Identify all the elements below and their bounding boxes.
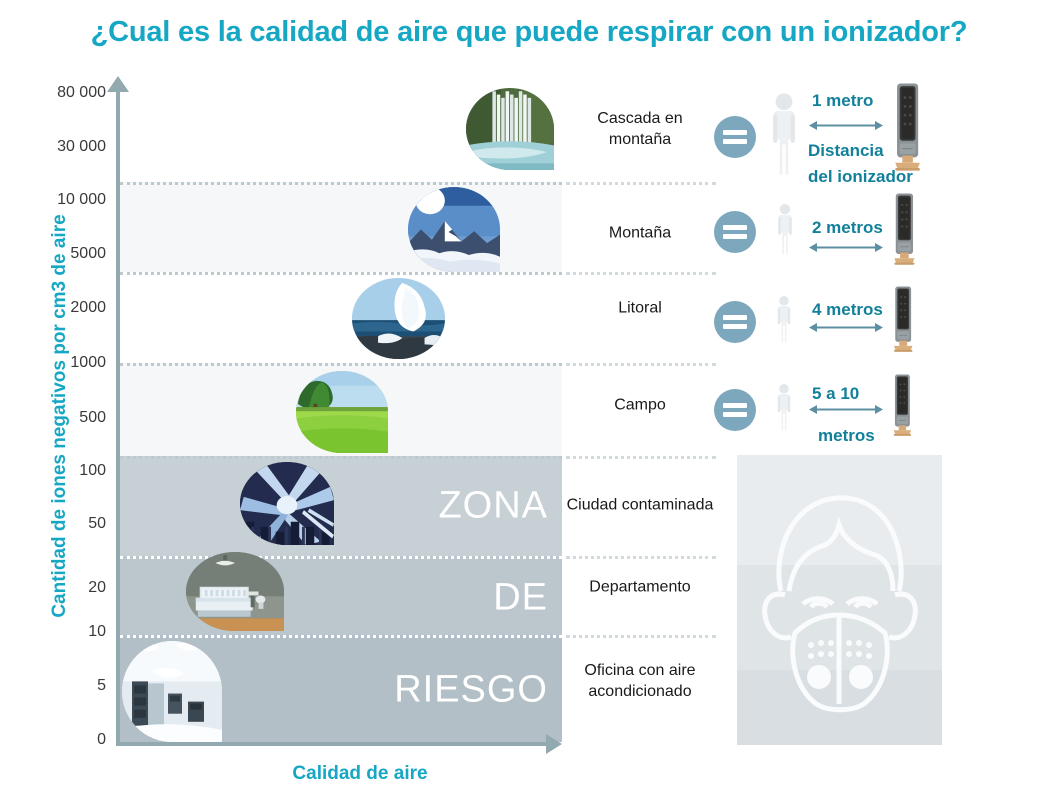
y-axis-tick: 1000 <box>30 354 106 372</box>
category-label: Cascada en montaña <box>566 108 714 150</box>
apartment-photo <box>186 552 284 631</box>
y-axis-tick: 10 <box>30 623 106 641</box>
ionizer-device-icon <box>890 375 915 442</box>
chart-gridline <box>120 556 562 559</box>
distance-value: 1 metro <box>812 91 873 111</box>
category-label: Campo <box>566 394 714 415</box>
y-axis-line <box>116 88 120 745</box>
double-arrow-icon <box>808 119 884 138</box>
y-axis-tick: 500 <box>30 409 106 427</box>
ionizer-device-icon <box>890 287 916 358</box>
y-axis-tick: 80 000 <box>30 84 106 102</box>
y-axis-tick: 2000 <box>30 299 106 317</box>
chart-gridline <box>120 182 562 185</box>
distance-caption-2: del ionizador <box>808 167 913 187</box>
risk-zone-text-3: RIESGO <box>394 669 548 712</box>
risk-zone-text-2: DE <box>493 577 548 620</box>
chart-gridline <box>120 272 562 275</box>
y-axis-tick: 5 <box>30 677 106 695</box>
chart-plot-area: ZONADERIESGO <box>120 88 562 742</box>
y-axis-tick-group: 80 00030 00010 0005000200010005001005020… <box>24 0 106 800</box>
equals-icon <box>714 116 756 158</box>
distance-value-sub: metros <box>818 426 875 446</box>
y-axis-tick: 100 <box>30 462 106 480</box>
infographic-canvas: ¿Cual es la calidad de aire que puede re… <box>0 0 1040 800</box>
chart-gridline <box>120 456 562 459</box>
equals-icon <box>714 301 756 343</box>
mountain-photo <box>408 187 500 272</box>
y-axis-arrowhead-icon <box>107 76 129 92</box>
face-mask-panel <box>737 455 942 745</box>
coast-photo <box>352 278 445 359</box>
chart-gridline-extension <box>566 556 716 559</box>
chart-gridline-extension <box>566 635 716 638</box>
person-icon <box>762 93 806 182</box>
category-label: Litoral <box>566 297 714 318</box>
chart-gridline-extension <box>566 456 716 459</box>
distance-caption-1: Distancia <box>808 141 884 161</box>
distance-value: 4 metros <box>812 300 883 320</box>
ionizer-device-icon <box>890 84 925 177</box>
double-arrow-icon <box>808 321 884 340</box>
x-axis-arrowhead-icon <box>546 734 562 754</box>
person-icon <box>772 384 796 437</box>
category-label-column: Cascada en montañaMontañaLitoralCampoCiu… <box>566 88 714 742</box>
double-arrow-icon <box>808 403 884 422</box>
face-mask-watermark-icon <box>749 473 929 733</box>
risk-zone-text-1: ZONA <box>438 485 548 528</box>
equals-icon <box>714 211 756 253</box>
category-label: Ciudad contaminada <box>566 494 714 515</box>
category-label: Oficina con aire acondicionado <box>566 660 714 702</box>
page-title: ¿Cual es la calidad de aire que puede re… <box>24 16 1034 49</box>
y-axis-tick: 10 000 <box>30 191 106 209</box>
person-icon <box>772 296 796 349</box>
office-photo <box>122 641 222 742</box>
x-axis-line <box>116 742 548 746</box>
y-axis-tick: 50 <box>30 515 106 533</box>
double-arrow-icon <box>808 241 884 260</box>
chart-gridline-extension <box>566 363 716 366</box>
chart-gridline <box>120 635 562 638</box>
y-axis-tick: 5000 <box>30 245 106 263</box>
ionizer-distance-column: 1 metro2 metros4 metros5 a 10metrosDista… <box>700 80 1040 480</box>
chart-gridline-extension <box>566 182 716 185</box>
chart-gridline <box>120 363 562 366</box>
waterfall-photo <box>466 88 554 170</box>
distance-value: 2 metros <box>812 218 883 238</box>
category-label: Departamento <box>566 576 714 597</box>
y-axis-tick: 0 <box>30 731 106 749</box>
category-label: Montaña <box>566 222 714 243</box>
x-axis-label: Calidad de aire <box>150 763 570 785</box>
equals-icon <box>714 389 756 431</box>
ionizer-device-icon <box>890 194 919 271</box>
countryside-photo <box>296 371 388 453</box>
distance-value: 5 a 10 <box>812 384 859 404</box>
person-icon <box>772 204 798 261</box>
polluted-city-photo <box>240 462 334 545</box>
chart-gridline-extension <box>566 272 716 275</box>
y-axis-tick: 20 <box>30 579 106 597</box>
y-axis-tick: 30 000 <box>30 138 106 156</box>
